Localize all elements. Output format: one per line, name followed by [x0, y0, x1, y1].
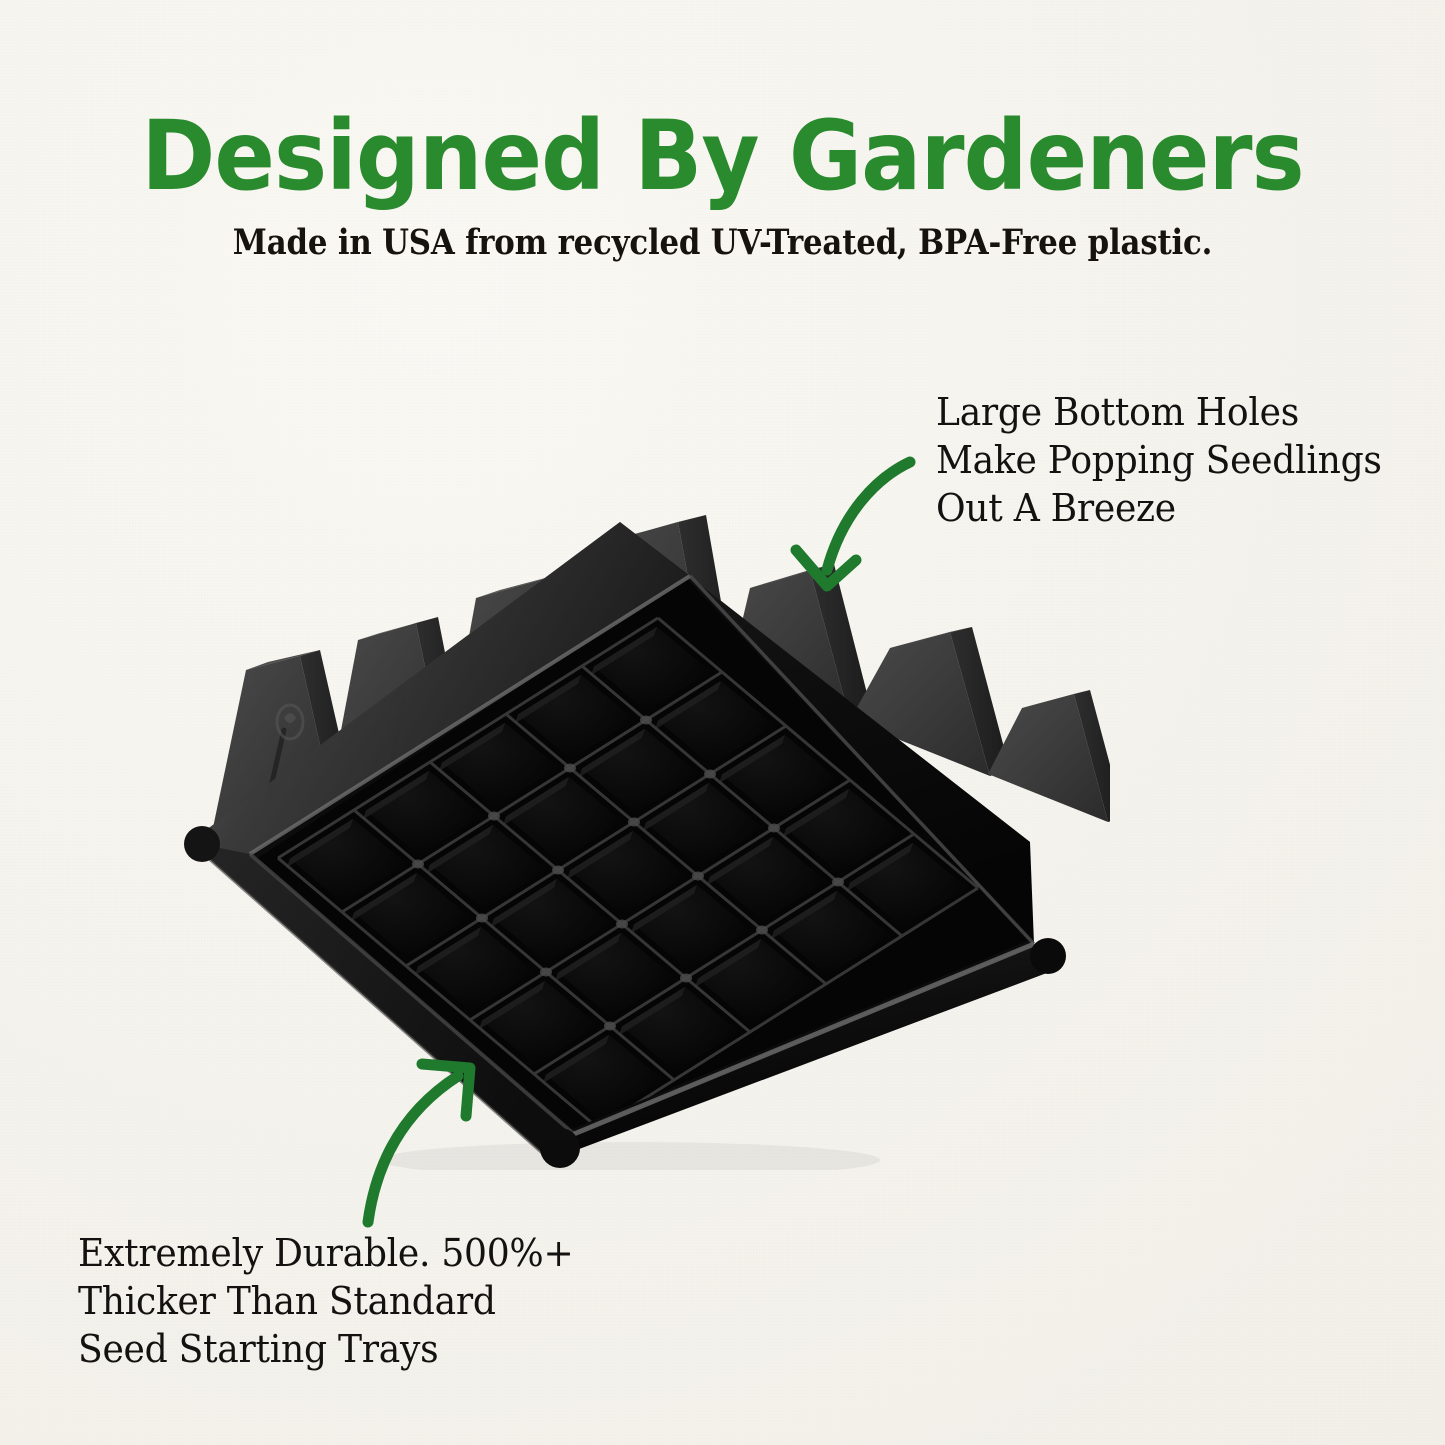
rib-intersection-bump: [476, 914, 488, 923]
rib-intersection-bump: [768, 824, 780, 833]
rib-intersection-bump: [756, 926, 768, 935]
rib-intersection-bump: [628, 818, 640, 827]
rib-intersection-bump: [552, 866, 564, 875]
rib-intersection-bump: [692, 872, 704, 881]
page-subtitle: Made in USA from recycled UV-Treated, BP…: [87, 222, 1359, 264]
rib-intersection-bump: [704, 770, 716, 779]
rib-intersection-bump: [540, 968, 552, 977]
drop-shadow: [380, 1142, 880, 1170]
page-title: Designed By Gardeners: [51, 106, 1395, 206]
rib-intersection-bump: [680, 974, 692, 983]
rib-intersection-bump: [412, 860, 424, 869]
rib-intersection-bump: [564, 764, 576, 773]
callout-extremely-durable: Extremely Durable. 500%+ Thicker Than St…: [78, 1229, 573, 1373]
rib-intersection-bump: [832, 878, 844, 887]
rib-intersection-bump: [488, 812, 500, 821]
rib-intersection-bump: [616, 920, 628, 929]
infographic-canvas: Designed By Gardeners Made in USA from r…: [0, 0, 1445, 1445]
rib-intersection-bump: [604, 1022, 616, 1031]
seed-tray-illustration: [150, 470, 1110, 1170]
rib-intersection-bump: [640, 716, 652, 725]
product-image: [150, 470, 1110, 1170]
callout-large-bottom-holes: Large Bottom Holes Make Popping Seedling…: [936, 388, 1382, 532]
